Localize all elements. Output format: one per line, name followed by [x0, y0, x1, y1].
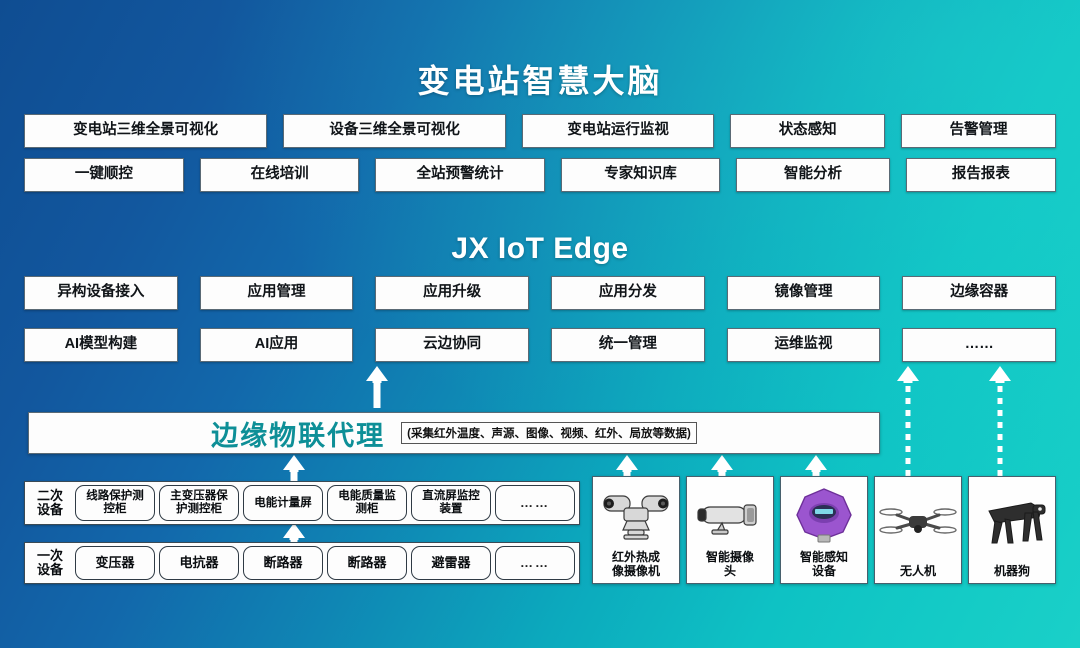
thermal-camera-icon — [593, 481, 679, 550]
arrow-thermal-camera-to-edge-agent — [614, 455, 640, 477]
secondary-equipment-pill-label: 直流屏监控 装置 — [422, 490, 480, 515]
edge-feature-card[interactable]: 应用管理 — [200, 276, 354, 310]
brain-feature-card-label: 专家知识库 — [604, 167, 677, 183]
edge-layer-title: JX IoT Edge — [0, 232, 1080, 266]
edge-agent-note: (采集红外温度、声源、图像、视频、红外、局放等数据) — [401, 422, 697, 444]
brain-feature-card-label: 变电站运行监视 — [567, 123, 669, 139]
brain-layer-row-1: 变电站三维全景可视化设备三维全景可视化变电站运行监视状态感知告警管理 — [24, 114, 1056, 148]
edge-feature-card[interactable]: AI模型构建 — [24, 328, 178, 362]
secondary-equipment-pill-label: 线路保护测 控柜 — [86, 490, 144, 515]
drone-icon — [875, 481, 961, 564]
brain-feature-card-label: 全站预警统计 — [417, 167, 504, 183]
brain-feature-card-label: 一键顺控 — [75, 167, 133, 183]
sensing-device-label: 红外热成 像摄像机 — [610, 550, 662, 583]
arrow-robot-dog-to-edge-layer — [987, 366, 1013, 476]
edge-feature-card-label: 异构设备接入 — [57, 285, 144, 301]
edge-agent-label: 边缘物联代理 — [211, 414, 385, 453]
sensing-device-card[interactable]: 机器狗 — [968, 476, 1056, 584]
sensing-device-label: 无人机 — [898, 564, 938, 583]
brain-feature-card-label: 告警管理 — [950, 123, 1008, 139]
edge-feature-card-label: …… — [965, 337, 994, 353]
sensing-device-label: 智能感知 设备 — [798, 550, 850, 583]
brain-feature-card[interactable]: 在线培训 — [200, 158, 360, 192]
secondary-equipment-pill-label: …… — [520, 496, 550, 510]
primary-equipment-pill-label: …… — [520, 556, 550, 570]
edge-feature-card[interactable]: AI应用 — [200, 328, 354, 362]
brain-feature-card-label: 设备三维全景可视化 — [329, 123, 460, 139]
primary-equipment-pill-label: 断路器 — [347, 556, 386, 570]
brain-feature-card[interactable]: 智能分析 — [736, 158, 889, 192]
edge-feature-card-label: 镜像管理 — [775, 285, 833, 301]
primary-equipment-pill[interactable]: 电抗器 — [159, 546, 239, 580]
edge-feature-card[interactable]: 应用升级 — [375, 276, 529, 310]
arrow-drone-to-edge-layer — [895, 366, 921, 476]
edge-agent-bar: 边缘物联代理 (采集红外温度、声源、图像、视频、红外、局放等数据) — [28, 412, 880, 454]
primary-equipment-pill[interactable]: 断路器 — [243, 546, 323, 580]
gas-sensor-icon — [781, 481, 867, 550]
edge-feature-card[interactable]: 异构设备接入 — [24, 276, 178, 310]
edge-feature-card-label: 应用管理 — [248, 285, 306, 301]
edge-feature-card-label: 边缘容器 — [950, 285, 1008, 301]
sensing-device-card-list: 红外热成 像摄像机 智能摄像 头 智能感知 设备 — [592, 476, 1056, 584]
edge-feature-card[interactable]: 应用分发 — [551, 276, 705, 310]
arrow-edge-agent-to-edge-layer — [364, 366, 390, 408]
secondary-equipment-row: 二次 设备 线路保护测 控柜主变压器保 护测控柜电能计量屏电能质量监 测柜直流屏… — [24, 481, 580, 525]
secondary-equipment-pill[interactable]: 电能计量屏 — [243, 485, 323, 521]
arrow-smart-sensor-to-edge-agent — [803, 455, 829, 477]
secondary-equipment-pill-label: 主变压器保 护测控柜 — [170, 490, 228, 515]
secondary-equipment-pill[interactable]: 主变压器保 护测控柜 — [159, 485, 239, 521]
primary-equipment-group-label: 一次 设备 — [29, 549, 71, 576]
edge-feature-card-label: 运维监视 — [775, 337, 833, 353]
arrow-secondary-to-edge-agent — [281, 455, 307, 481]
sensing-device-label: 智能摄像 头 — [704, 550, 756, 583]
arrow-primary-to-secondary — [281, 523, 307, 543]
robot-dog-icon — [969, 481, 1055, 564]
brain-feature-card-label: 变电站三维全景可视化 — [73, 123, 218, 139]
sensing-device-card[interactable]: 红外热成 像摄像机 — [592, 476, 680, 584]
edge-feature-card[interactable]: 运维监视 — [727, 328, 881, 362]
architecture-diagram: 变电站智慧大脑 变电站三维全景可视化设备三维全景可视化变电站运行监视状态感知告警… — [0, 0, 1080, 648]
secondary-equipment-pill-label: 电能质量监 测柜 — [338, 490, 396, 515]
edge-feature-card[interactable]: 边缘容器 — [902, 276, 1056, 310]
primary-equipment-pill[interactable]: …… — [495, 546, 575, 580]
secondary-equipment-pill-label: 电能计量屏 — [254, 497, 312, 510]
sensing-device-card[interactable]: 智能感知 设备 — [780, 476, 868, 584]
secondary-equipment-pill[interactable]: 线路保护测 控柜 — [75, 485, 155, 521]
primary-equipment-pill-label: 变压器 — [95, 556, 134, 570]
brain-feature-card[interactable]: 专家知识库 — [561, 158, 721, 192]
edge-feature-card[interactable]: 云边协同 — [375, 328, 529, 362]
edge-feature-card-label: 云边协同 — [423, 337, 481, 353]
brain-feature-card-label: 报告报表 — [952, 167, 1010, 183]
primary-equipment-pill[interactable]: 变压器 — [75, 546, 155, 580]
brain-feature-card[interactable]: 状态感知 — [730, 114, 885, 148]
edge-feature-card-label: AI模型构建 — [65, 337, 138, 353]
brain-feature-card[interactable]: 设备三维全景可视化 — [283, 114, 506, 148]
edge-feature-card-label: 应用升级 — [423, 285, 481, 301]
edge-feature-card[interactable]: …… — [902, 328, 1056, 362]
primary-equipment-pill-label: 电抗器 — [179, 556, 218, 570]
primary-equipment-pill[interactable]: 避雷器 — [411, 546, 491, 580]
brain-layer-title: 变电站智慧大脑 — [0, 56, 1080, 102]
brain-layer-row-2: 一键顺控在线培训全站预警统计专家知识库智能分析报告报表 — [24, 158, 1056, 192]
brain-feature-card-label: 状态感知 — [779, 123, 837, 139]
brain-feature-card[interactable]: 全站预警统计 — [375, 158, 544, 192]
primary-equipment-pill-label: 断路器 — [263, 556, 302, 570]
edge-feature-card-label: AI应用 — [255, 337, 299, 353]
edge-layer-row-2: AI模型构建AI应用云边协同统一管理运维监视…… — [24, 328, 1056, 362]
arrow-smart-camera-to-edge-agent — [709, 455, 735, 477]
secondary-equipment-group-label: 二次 设备 — [29, 489, 71, 516]
sensing-device-card[interactable]: 无人机 — [874, 476, 962, 584]
edge-feature-card-label: 统一管理 — [599, 337, 657, 353]
edge-layer-row-1: 异构设备接入应用管理应用升级应用分发镜像管理边缘容器 — [24, 276, 1056, 310]
brain-feature-card[interactable]: 一键顺控 — [24, 158, 184, 192]
sensing-device-card[interactable]: 智能摄像 头 — [686, 476, 774, 584]
brain-feature-card-label: 智能分析 — [784, 167, 842, 183]
secondary-equipment-pill[interactable]: 直流屏监控 装置 — [411, 485, 491, 521]
brain-feature-card-label: 在线培训 — [251, 167, 309, 183]
primary-equipment-pill-label: 避雷器 — [431, 556, 470, 570]
primary-equipment-pill[interactable]: 断路器 — [327, 546, 407, 580]
primary-equipment-row: 一次 设备 变压器电抗器断路器断路器避雷器…… — [24, 542, 580, 584]
brain-feature-card[interactable]: 告警管理 — [901, 114, 1056, 148]
brain-feature-card[interactable]: 变电站运行监视 — [522, 114, 714, 148]
sensing-device-label: 机器狗 — [992, 564, 1032, 583]
secondary-equipment-pill[interactable]: 电能质量监 测柜 — [327, 485, 407, 521]
edge-feature-card[interactable]: 统一管理 — [551, 328, 705, 362]
edge-feature-card-label: 应用分发 — [599, 285, 657, 301]
edge-feature-card[interactable]: 镜像管理 — [727, 276, 881, 310]
brain-feature-card[interactable]: 报告报表 — [906, 158, 1056, 192]
secondary-equipment-pill[interactable]: …… — [495, 485, 575, 521]
bullet-camera-icon — [687, 481, 773, 550]
brain-feature-card[interactable]: 变电站三维全景可视化 — [24, 114, 267, 148]
